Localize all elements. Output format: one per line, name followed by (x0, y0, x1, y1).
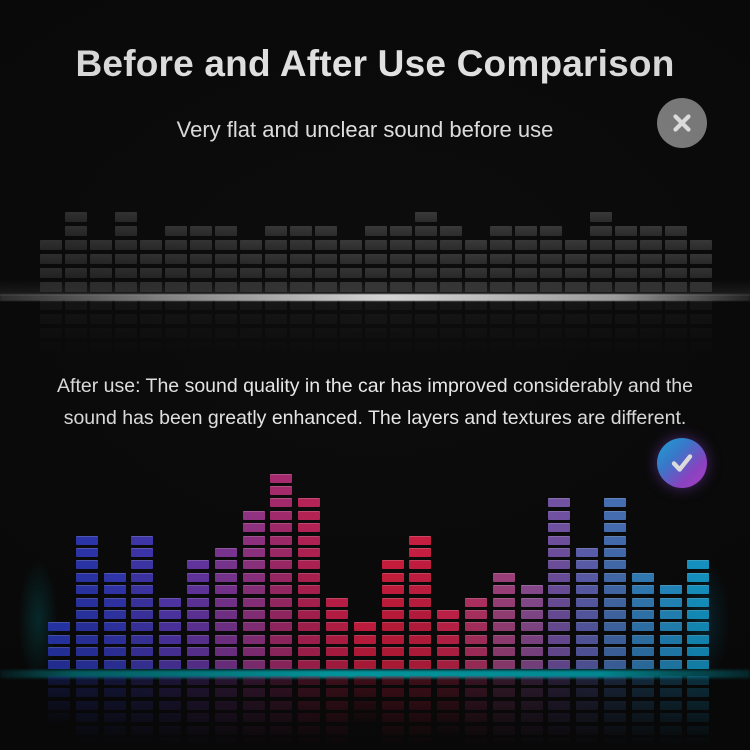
equalizer-segment-reflection (215, 300, 237, 310)
equalizer-segment-reflection (290, 314, 312, 324)
equalizer-bar-reflection (243, 676, 265, 746)
equalizer-segment-reflection (90, 300, 112, 310)
equalizer-segment-reflection (465, 738, 487, 746)
equalizer-segment-reflection (493, 713, 515, 722)
equalizer-segment-reflection (540, 342, 562, 352)
equalizer-segment-reflection (215, 314, 237, 324)
equalizer-segment-reflection (515, 328, 537, 338)
equalizer-segment-reflection (190, 300, 212, 310)
equalizer-segment-reflection (354, 701, 376, 710)
equalizer-segment-reflection (604, 738, 626, 746)
equalizer-segment-reflection (243, 676, 265, 685)
equalizer-segment-reflection (76, 726, 98, 735)
equalizer-segment-reflection (640, 300, 662, 310)
equalizer-segment-reflection (604, 676, 626, 685)
equalizer-segment-reflection (576, 713, 598, 722)
equalizer-segment-reflection (48, 676, 70, 685)
equalizer-segment-reflection (465, 701, 487, 710)
equalizer-segment-reflection (515, 300, 537, 310)
equalizer-bar-reflection (290, 300, 312, 356)
equalizer-segment-reflection (290, 300, 312, 310)
equalizer-bar-reflection (354, 676, 376, 726)
equalizer-bar-reflection (65, 300, 87, 356)
equalizer-segment-reflection (690, 314, 712, 324)
equalizer-segment-reflection (140, 300, 162, 310)
equalizer-segment-reflection (493, 738, 515, 746)
equalizer-bar-reflection (632, 676, 654, 746)
equalizer-segment-reflection (290, 328, 312, 338)
equalizer-segment-reflection (265, 314, 287, 324)
equalizer-segment-reflection (437, 701, 459, 710)
equalizer-segment-reflection (187, 726, 209, 735)
equalizer-bar-reflection (437, 676, 459, 738)
equalizer-segment-reflection (340, 342, 362, 352)
equalizer-segment-reflection (240, 300, 262, 310)
equalizer-bar-reflection (340, 300, 362, 356)
equalizer-segment-reflection (415, 342, 437, 352)
equalizer-segment-reflection (104, 701, 126, 710)
equalizer-segment-reflection (465, 688, 487, 697)
equalizer-segment-reflection (540, 300, 562, 310)
equalizer-bar-reflection (565, 300, 587, 356)
equalizer-segment-reflection (187, 701, 209, 710)
equalizer-segment-reflection (660, 676, 682, 685)
equalizer-segment-reflection (521, 713, 543, 722)
equalizer-segment-reflection (515, 314, 537, 324)
equalizer-segment-reflection (640, 328, 662, 338)
equalizer-bar-reflection (165, 300, 187, 356)
equalizer-segment-reflection (437, 713, 459, 722)
equalizer-segment-reflection (315, 328, 337, 338)
after-equalizer-chart (0, 440, 750, 750)
equalizer-segment-reflection (190, 328, 212, 338)
equalizer-bar-reflection (215, 676, 237, 746)
equalizer-segment-reflection (660, 738, 682, 746)
equalizer-segment-reflection (215, 676, 237, 685)
equalizer-segment-reflection (215, 328, 237, 338)
equalizer-segment-reflection (104, 738, 126, 746)
equalizer-segment-reflection (687, 713, 709, 722)
equalizer-bar-reflection (115, 300, 137, 356)
equalizer-segment-reflection (40, 342, 62, 352)
equalizer-bar-reflection (315, 300, 337, 356)
equalizer-segment-reflection (382, 676, 404, 685)
equalizer-segment-reflection (240, 314, 262, 324)
equalizer-segment-reflection (48, 713, 70, 722)
equalizer-segment-reflection (548, 726, 570, 735)
equalizer-segment-reflection (687, 738, 709, 746)
equalizer-segment-reflection (326, 676, 348, 685)
equalizer-segment-reflection (465, 713, 487, 722)
equalizer-segment-reflection (40, 300, 62, 310)
equalizer-segment-reflection (140, 328, 162, 338)
equalizer-segment-reflection (409, 701, 431, 710)
equalizer-segment-reflection (326, 738, 348, 746)
equalizer-bar-reflection (326, 676, 348, 746)
equalizer-segment-reflection (243, 688, 265, 697)
equalizer-bar-reflection (298, 676, 320, 746)
equalizer-segment-reflection (159, 701, 181, 710)
before-equalizer-reflection (0, 150, 750, 350)
equalizer-bar-reflection (215, 300, 237, 356)
equalizer-segment-reflection (90, 328, 112, 338)
equalizer-bar-reflection (640, 300, 662, 356)
equalizer-segment-reflection (382, 701, 404, 710)
equalizer-bar-reflection (465, 676, 487, 746)
equalizer-segment-reflection (76, 676, 98, 685)
equalizer-segment-reflection (365, 300, 387, 310)
equalizer-segment-reflection (687, 688, 709, 697)
equalizer-segment-reflection (165, 342, 187, 352)
equalizer-segment-reflection (437, 726, 459, 735)
equalizer-segment-reflection (243, 738, 265, 746)
equalizer-segment-reflection (270, 676, 292, 685)
equalizer-segment-reflection (604, 701, 626, 710)
equalizer-segment-reflection (576, 726, 598, 735)
equalizer-segment-reflection (409, 713, 431, 722)
equalizer-segment-reflection (590, 314, 612, 324)
equalizer-segment-reflection (340, 300, 362, 310)
equalizer-segment-reflection (565, 300, 587, 310)
page-title: Before and After Use Comparison (0, 44, 750, 85)
equalizer-bar-reflection (440, 300, 462, 356)
equalizer-segment-reflection (270, 738, 292, 746)
equalizer-segment-reflection (382, 688, 404, 697)
equalizer-segment-reflection (565, 314, 587, 324)
equalizer-segment-reflection (382, 713, 404, 722)
equalizer-segment-reflection (437, 688, 459, 697)
equalizer-segment-reflection (632, 713, 654, 722)
equalizer-bar-reflection (48, 676, 70, 726)
equalizer-segment-reflection (104, 676, 126, 685)
equalizer-segment-reflection (90, 314, 112, 324)
equalizer-segment-reflection (440, 314, 462, 324)
equalizer-bar-reflection (604, 676, 626, 746)
equalizer-segment-reflection (215, 738, 237, 746)
equalizer-segment-reflection (640, 314, 662, 324)
equalizer-segment-reflection (90, 342, 112, 352)
equalizer-segment-reflection (690, 342, 712, 352)
equalizer-bar-reflection (104, 676, 126, 746)
equalizer-segment-reflection (115, 314, 137, 324)
equalizer-segment-reflection (240, 328, 262, 338)
equalizer-segment-reflection (76, 738, 98, 746)
equalizer-segment-reflection (240, 342, 262, 352)
equalizer-segment-reflection (660, 688, 682, 697)
equalizer-segment-reflection (409, 676, 431, 685)
equalizer-bar-reflection (382, 676, 404, 746)
equalizer-segment-reflection (298, 713, 320, 722)
equalizer-segment-reflection (521, 726, 543, 735)
equalizer-segment-reflection (265, 342, 287, 352)
equalizer-segment-reflection (340, 328, 362, 338)
equalizer-segment-reflection (382, 726, 404, 735)
equalizer-segment-reflection (548, 676, 570, 685)
equalizer-segment-reflection (415, 300, 437, 310)
equalizer-segment-reflection (690, 328, 712, 338)
equalizer-segment-reflection (493, 701, 515, 710)
equalizer-segment-reflection (315, 300, 337, 310)
equalizer-segment-reflection (187, 713, 209, 722)
equalizer-bar-reflection (131, 676, 153, 746)
equalizer-segment-reflection (382, 738, 404, 746)
equalizer-segment-reflection (576, 701, 598, 710)
equalizer-segment-reflection (187, 676, 209, 685)
equalizer-segment-reflection (465, 726, 487, 735)
equalizer-segment-reflection (326, 701, 348, 710)
equalizer-segment-reflection (632, 738, 654, 746)
equalizer-segment-reflection (76, 688, 98, 697)
equalizer-segment-reflection (632, 726, 654, 735)
equalizer-segment-reflection (465, 314, 487, 324)
equalizer-bar-reflection (390, 300, 412, 356)
equalizer-segment-reflection (632, 676, 654, 685)
equalizer-segment-reflection (665, 328, 687, 338)
equalizer-segment-reflection (131, 701, 153, 710)
equalizer-segment-reflection (665, 314, 687, 324)
equalizer-segment-reflection (215, 342, 237, 352)
equalizer-bar-reflection (521, 676, 543, 746)
equalizer-segment-reflection (165, 300, 187, 310)
equalizer-bar-reflection (515, 300, 537, 356)
equalizer-segment-reflection (326, 688, 348, 697)
equalizer-segment-reflection (315, 342, 337, 352)
equalizer-segment-reflection (390, 342, 412, 352)
equalizer-bar-reflection (187, 676, 209, 746)
equalizer-segment-reflection (270, 688, 292, 697)
equalizer-segment-reflection (243, 701, 265, 710)
equalizer-segment-reflection (270, 726, 292, 735)
equalizer-segment-reflection (548, 738, 570, 746)
equalizer-segment-reflection (493, 676, 515, 685)
equalizer-segment-reflection (354, 713, 376, 722)
equalizer-segment-reflection (265, 300, 287, 310)
equalizer-segment-reflection (465, 342, 487, 352)
equalizer-segment-reflection (140, 314, 162, 324)
equalizer-segment-reflection (521, 738, 543, 746)
equalizer-segment-reflection (409, 738, 431, 746)
equalizer-segment-reflection (40, 328, 62, 338)
equalizer-segment-reflection (140, 342, 162, 352)
equalizer-segment-reflection (465, 300, 487, 310)
equalizer-segment-reflection (660, 726, 682, 735)
equalizer-segment-reflection (270, 701, 292, 710)
equalizer-segment-reflection (415, 314, 437, 324)
equalizer-bar-reflection (465, 300, 487, 356)
equalizer-segment-reflection (365, 328, 387, 338)
equalizer-segment-reflection (665, 342, 687, 352)
equalizer-segment-reflection (326, 713, 348, 722)
equalizer-segment-reflection (521, 676, 543, 685)
equalizer-bar-reflection (660, 676, 682, 746)
equalizer-segment-reflection (576, 738, 598, 746)
equalizer-segment-reflection (215, 688, 237, 697)
equalizer-bar-reflection (548, 676, 570, 746)
equalizer-segment-reflection (660, 713, 682, 722)
equalizer-segment-reflection (159, 738, 181, 746)
equalizer-segment-reflection (215, 701, 237, 710)
equalizer-segment-reflection (515, 342, 537, 352)
equalizer-bar-reflection (270, 676, 292, 746)
equalizer-segment-reflection (490, 342, 512, 352)
equalizer-segment-reflection (131, 688, 153, 697)
equalizer-segment-reflection (76, 713, 98, 722)
equalizer-segment-reflection (115, 328, 137, 338)
equalizer-segment-reflection (604, 726, 626, 735)
equalizer-segment-reflection (690, 300, 712, 310)
equalizer-segment-reflection (521, 701, 543, 710)
equalizer-bar-reflection (590, 300, 612, 356)
equalizer-bar-reflection (90, 300, 112, 356)
equalizer-segment-reflection (340, 314, 362, 324)
equalizer-segment-reflection (48, 688, 70, 697)
equalizer-segment-reflection (390, 328, 412, 338)
equalizer-segment-reflection (565, 328, 587, 338)
equalizer-segment-reflection (65, 300, 87, 310)
after-caption: After use: The sound quality in the car … (30, 370, 720, 434)
equalizer-segment-reflection (315, 314, 337, 324)
equalizer-segment-reflection (165, 314, 187, 324)
equalizer-segment-reflection (265, 328, 287, 338)
after-equalizer-reflection (0, 440, 750, 750)
equalizer-bar-reflection (415, 300, 437, 356)
equalizer-segment-reflection (270, 713, 292, 722)
equalizer-segment-reflection (365, 314, 387, 324)
equalizer-bar-reflection (265, 300, 287, 356)
equalizer-segment-reflection (440, 342, 462, 352)
equalizer-segment-reflection (687, 701, 709, 710)
equalizer-segment-reflection (409, 688, 431, 697)
equalizer-segment-reflection (437, 676, 459, 685)
equalizer-segment-reflection (660, 701, 682, 710)
equalizer-segment-reflection (440, 328, 462, 338)
equalizer-bar-reflection (687, 676, 709, 746)
equalizer-segment-reflection (243, 726, 265, 735)
equalizer-segment-reflection (490, 300, 512, 310)
equalizer-segment-reflection (104, 688, 126, 697)
equalizer-segment-reflection (590, 342, 612, 352)
equalizer-segment-reflection (632, 688, 654, 697)
equalizer-segment-reflection (131, 726, 153, 735)
equalizer-segment-reflection (415, 328, 437, 338)
equalizer-segment-reflection (159, 713, 181, 722)
equalizer-segment-reflection (590, 328, 612, 338)
equalizer-segment-reflection (159, 676, 181, 685)
equalizer-segment-reflection (615, 342, 637, 352)
equalizer-segment-reflection (115, 300, 137, 310)
equalizer-segment-reflection (187, 738, 209, 746)
equalizer-segment-reflection (215, 713, 237, 722)
equalizer-segment-reflection (465, 676, 487, 685)
equalizer-bar-reflection (690, 300, 712, 356)
equalizer-segment-reflection (190, 314, 212, 324)
equalizer-segment-reflection (298, 701, 320, 710)
equalizer-segment-reflection (290, 342, 312, 352)
equalizer-segment-reflection (48, 701, 70, 710)
equalizer-segment-reflection (687, 726, 709, 735)
before-equalizer-chart (0, 150, 750, 350)
equalizer-segment-reflection (540, 328, 562, 338)
equalizer-segment-reflection (190, 342, 212, 352)
equalizer-bar-reflection (540, 300, 562, 356)
equalizer-segment-reflection (159, 688, 181, 697)
equalizer-segment-reflection (565, 342, 587, 352)
before-caption: Very flat and unclear sound before use (0, 117, 750, 143)
equalizer-segment-reflection (354, 676, 376, 685)
equalizer-segment-reflection (104, 726, 126, 735)
equalizer-segment-reflection (493, 688, 515, 697)
equalizer-segment-reflection (115, 342, 137, 352)
equalizer-segment-reflection (604, 688, 626, 697)
equalizer-segment-reflection (548, 688, 570, 697)
equalizer-segment-reflection (615, 314, 637, 324)
equalizer-segment-reflection (440, 300, 462, 310)
equalizer-bar-reflection (140, 300, 162, 356)
equalizer-segment-reflection (159, 726, 181, 735)
equalizer-segment-reflection (298, 726, 320, 735)
equalizer-segment-reflection (490, 328, 512, 338)
equalizer-segment-reflection (615, 300, 637, 310)
equalizer-segment-reflection (665, 300, 687, 310)
equalizer-segment-reflection (576, 688, 598, 697)
equalizer-bar-reflection (40, 300, 62, 356)
equalizer-segment-reflection (590, 300, 612, 310)
equalizer-segment-reflection (465, 328, 487, 338)
equalizer-segment-reflection (65, 328, 87, 338)
equalizer-segment-reflection (65, 314, 87, 324)
equalizer-segment-reflection (390, 314, 412, 324)
equalizer-segment-reflection (65, 342, 87, 352)
equalizer-bar-reflection (159, 676, 181, 746)
equalizer-bar-reflection (240, 300, 262, 356)
equalizer-segment-reflection (521, 688, 543, 697)
equalizer-bar-reflection (76, 676, 98, 746)
equalizer-bar-reflection (190, 300, 212, 356)
equalizer-segment-reflection (354, 688, 376, 697)
equalizer-bar-reflection (365, 300, 387, 356)
equalizer-segment-reflection (548, 713, 570, 722)
equalizer-segment-reflection (640, 342, 662, 352)
equalizer-segment-reflection (390, 300, 412, 310)
equalizer-segment-reflection (548, 701, 570, 710)
equalizer-segment-reflection (540, 314, 562, 324)
equalizer-segment-reflection (298, 676, 320, 685)
equalizer-bar-reflection (409, 676, 431, 746)
equalizer-segment-reflection (490, 314, 512, 324)
equalizer-bar-reflection (576, 676, 598, 746)
equalizer-segment-reflection (131, 738, 153, 746)
product-comparison-image: Before and After Use Comparison Very fla… (0, 0, 750, 750)
equalizer-segment-reflection (604, 713, 626, 722)
equalizer-segment-reflection (326, 726, 348, 735)
equalizer-bar-reflection (490, 300, 512, 356)
equalizer-segment-reflection (104, 713, 126, 722)
equalizer-bar-reflection (665, 300, 687, 356)
equalizer-segment-reflection (243, 713, 265, 722)
equalizer-segment-reflection (298, 688, 320, 697)
equalizer-segment-reflection (365, 342, 387, 352)
equalizer-segment-reflection (409, 726, 431, 735)
equalizer-segment-reflection (615, 328, 637, 338)
equalizer-bar-reflection (493, 676, 515, 746)
equalizer-segment-reflection (40, 314, 62, 324)
equalizer-bar-reflection (615, 300, 637, 356)
equalizer-segment-reflection (76, 701, 98, 710)
equalizer-segment-reflection (187, 688, 209, 697)
equalizer-segment-reflection (131, 676, 153, 685)
equalizer-segment-reflection (632, 701, 654, 710)
equalizer-segment-reflection (493, 726, 515, 735)
